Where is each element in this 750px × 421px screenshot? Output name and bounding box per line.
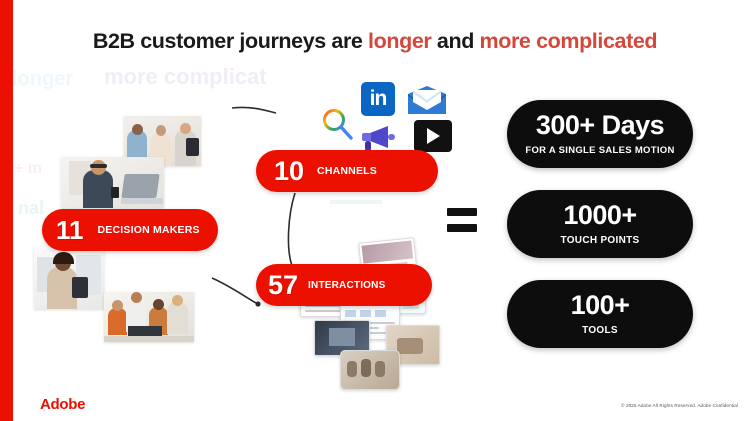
play-triangle-icon — [427, 128, 440, 144]
badge-decision-makers-number: 11 — [56, 217, 84, 243]
badge-channels-label: CHANNELS — [317, 165, 377, 177]
stat-card-touch-points: 1000+ TOUCH POINTS — [507, 190, 693, 258]
email-icon — [406, 85, 448, 115]
slide-canvas: B2B customer journeys are longer and mor… — [0, 0, 750, 421]
title-middle: and — [431, 29, 479, 53]
equals-sign — [447, 208, 477, 234]
video-icon — [414, 120, 452, 152]
stat-card-touch-points-caption: TOUCH POINTS — [561, 235, 640, 246]
adobe-logo: Adobe — [40, 396, 85, 413]
left-accent-bar — [0, 0, 13, 421]
title-highlight-complicated: more complicated — [480, 29, 658, 53]
page-title: B2B customer journeys are longer and mor… — [0, 29, 750, 54]
badge-interactions-number: 57 — [268, 272, 298, 299]
ghost-stripe-b — [330, 200, 382, 204]
badge-channels: 10 CHANNELS — [256, 150, 438, 192]
stat-card-days-value: 300+ Days — [536, 112, 664, 139]
search-icon — [318, 105, 358, 145]
badge-decision-makers: 11 DECISION MAKERS — [42, 209, 218, 251]
stat-card-tools-value: 100+ — [571, 292, 630, 319]
equals-bar-bottom — [447, 224, 477, 232]
photo-man-laptop — [61, 157, 164, 208]
linkedin-glyph: in — [361, 82, 395, 116]
title-highlight-longer: longer — [368, 29, 431, 53]
linkedin-icon: in — [361, 82, 395, 116]
stat-card-tools-caption: TOOLS — [582, 325, 618, 336]
stat-card-days-caption: FOR A SINGLE SALES MOTION — [525, 145, 674, 156]
screen-thumb-7 — [340, 350, 400, 390]
badge-interactions: 57 INTERACTIONS — [256, 264, 432, 306]
badge-decision-makers-label: DECISION MAKERS — [98, 224, 200, 236]
stat-card-tools: 100+ TOOLS — [507, 280, 693, 348]
copyright-notice: © 2025 Adobe All Rights Reserved. Adobe … — [621, 403, 738, 408]
photo-team-table — [104, 292, 194, 342]
photo-woman-tablet — [34, 247, 104, 309]
badge-channels-number: 10 — [274, 158, 304, 185]
equals-bar-top — [447, 208, 477, 216]
badge-interactions-label: INTERACTIONS — [308, 280, 385, 291]
title-prefix: B2B customer journeys are — [93, 29, 368, 53]
stat-card-days: 300+ Days FOR A SINGLE SALES MOTION — [507, 100, 693, 168]
stat-card-touch-points-value: 1000+ — [563, 202, 636, 229]
